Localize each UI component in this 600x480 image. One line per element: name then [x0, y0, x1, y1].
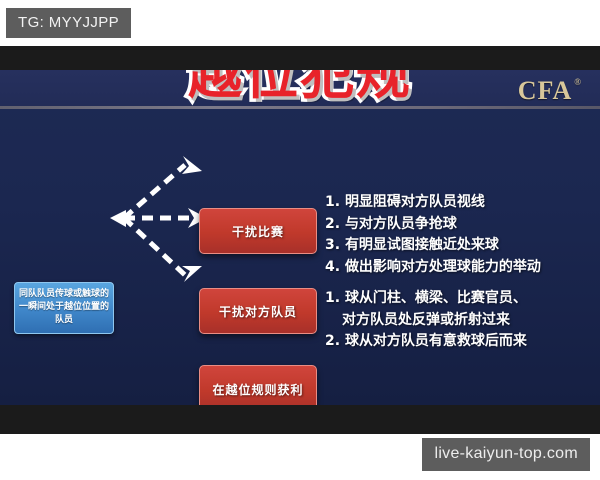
source-condition-box: 同队队员传球或触球的一瞬间处于越位位置的队员: [14, 282, 114, 334]
outcome-box-interfering-with-play[interactable]: 干扰比赛: [199, 208, 317, 254]
list-item-number: 4.: [325, 259, 340, 275]
list-item-number: 3.: [325, 237, 340, 253]
list-item-number: 2.: [325, 333, 340, 349]
list-item-text: 与对方队员争抢球: [345, 216, 457, 232]
list-item-number: 1.: [325, 290, 340, 306]
screenshot-stage: TG: MYYJJPP CFA ® 越位犯规 同队队员传球或触球的一瞬间处于越位…: [0, 0, 600, 480]
list-item-text: 球从对方队员有意救球后而来: [345, 333, 527, 349]
telegram-handle-badge: TG: MYYJJPP: [6, 8, 131, 38]
arrowhead-up-icon: [182, 156, 202, 174]
outcome-box-label: 干扰比赛: [232, 223, 284, 240]
letterbox-bar-bottom: [0, 405, 600, 434]
list-item-text: 球从门柱、横梁、比赛官员、: [345, 290, 527, 306]
arrowhead-left-icon: [110, 210, 126, 227]
list-item-text-continued: 对方队员处反弹或折射过来: [325, 310, 527, 332]
outcome-box-label: 在越位规则获利: [212, 381, 303, 398]
list-item-text: 有明显试图接触近处来球: [345, 237, 499, 253]
outcome-box-gaining-advantage[interactable]: 在越位规则获利: [199, 365, 317, 405]
list-item: 1. 明显阻碍对方队员视线: [325, 192, 541, 214]
site-watermark: live-kaiyun-top.com: [422, 438, 590, 471]
slide-canvas: CFA ® 越位犯规 同队队员传球或触球的一瞬间处于越位位置的队员 干扰比赛: [0, 70, 600, 405]
slide-title: 越位犯规: [0, 70, 600, 102]
detail-list-gaining-advantage: 1. 球从门柱、横梁、比赛官员、 对方队员处反弹或折射过来 2. 球从对方队员有…: [325, 288, 527, 353]
list-item: 4. 做出影响对方处理球能力的举动: [325, 257, 541, 279]
arrow-line-up: [124, 165, 185, 218]
list-item: 3. 有明显试图接触近处来球: [325, 235, 541, 257]
list-item-text: 做出影响对方处理球能力的举动: [345, 259, 541, 275]
arrowhead-down-icon: [182, 266, 202, 282]
list-item: 2. 球从对方队员有意救球后而来: [325, 331, 527, 353]
outcome-box-interfering-with-opponent[interactable]: 干扰对方队员: [199, 288, 317, 334]
source-condition-text: 同队队员传球或触球的一瞬间处于越位位置的队员: [19, 288, 109, 327]
list-item-text: 明显阻碍对方队员视线: [345, 194, 485, 210]
arrow-line-down: [124, 218, 185, 275]
list-item-number: 1.: [325, 194, 340, 210]
detail-list-interfering-with-opponent: 1. 明显阻碍对方队员视线 2. 与对方队员争抢球 3. 有明显试图接触近处来球…: [325, 192, 541, 279]
list-item-number: 2.: [325, 216, 340, 232]
slide-divider-line: [0, 106, 600, 109]
letterbox-bar-top: [0, 46, 600, 70]
list-item: 2. 与对方队员争抢球: [325, 214, 541, 236]
outcome-box-label: 干扰对方队员: [219, 303, 297, 320]
list-item: 1. 球从门柱、横梁、比赛官员、 对方队员处反弹或折射过来: [325, 288, 527, 331]
